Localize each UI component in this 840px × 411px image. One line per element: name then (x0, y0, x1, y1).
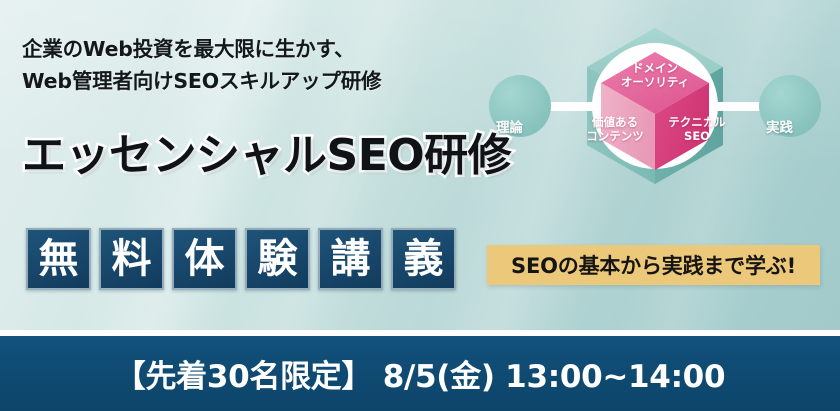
kanji-box: 料 (99, 228, 164, 290)
free-trial-lesson-kanji-row: 無 料 体 験 講 義 (26, 228, 456, 290)
kanji-box: 験 (245, 228, 310, 290)
banner-main-title: エッセンシャルSEO研修 (22, 133, 511, 179)
practice-circle-label: 実践 (766, 116, 793, 136)
theory-circle-label: 理論 (496, 116, 523, 136)
kanji-box: 無 (26, 228, 91, 290)
seo-training-banner: 企業のWeb投資を最大限に生かす、 Web管理者向けSEOスキルアップ研修 エッ… (0, 0, 840, 411)
cube-label-technical-seo: テクニカル SEO (652, 116, 742, 143)
cube-label-valuable-content: 価値ある コンテンツ (574, 116, 656, 143)
cube-label-domain-authority: ドメイン オーソリティ (588, 62, 722, 89)
kanji-box: 体 (172, 228, 237, 290)
event-details-bar: 【先着30名限定】 8/5(金) 13:00~14:00 (0, 336, 840, 411)
tagline-badge: SEOの基本から実践まで学ぶ! (487, 245, 820, 285)
banner-subtitle: 企業のWeb投資を最大限に生かす、 Web管理者向けSEOスキルアップ研修 (22, 34, 492, 98)
kanji-box: 講 (318, 228, 383, 290)
kanji-box: 義 (391, 228, 456, 290)
seo-concept-diagram: 理論 実践 ドメイン オーソリティ 価値ある コンテンツ テクニカル SEO (470, 10, 840, 225)
